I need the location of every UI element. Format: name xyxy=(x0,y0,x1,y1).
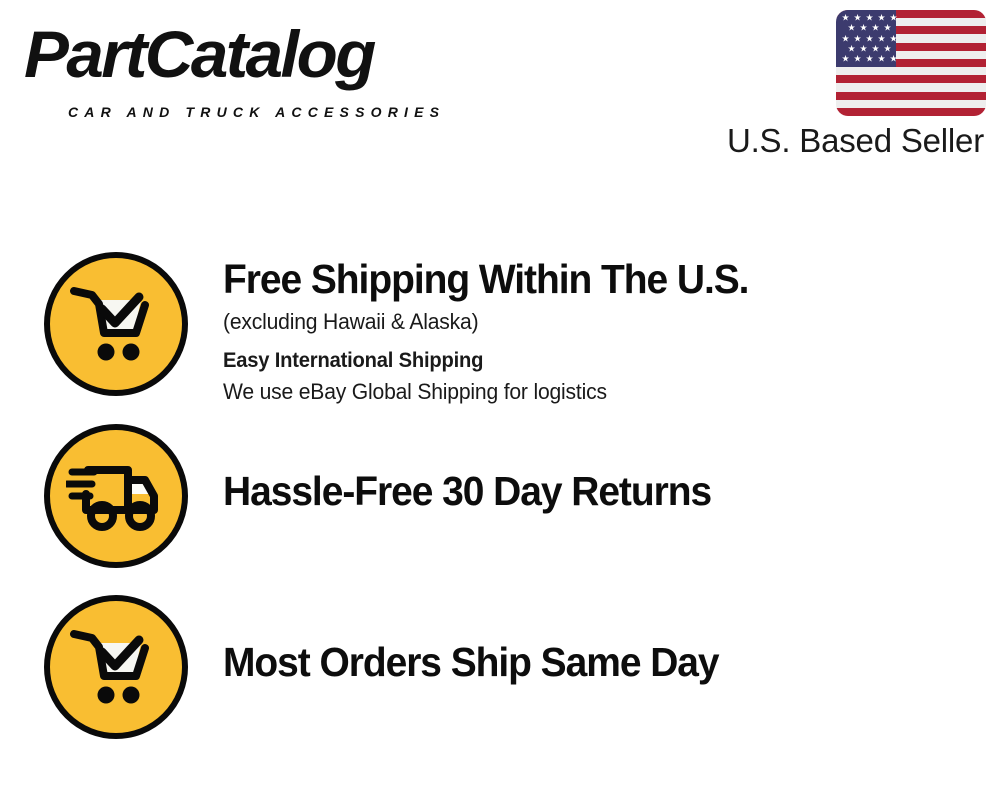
brand-logo[interactable]: PartCatalog CAR AND TRUCK ACCESSORIES xyxy=(24,18,494,113)
brand-tagline: CAR AND TRUCK ACCESSORIES xyxy=(68,104,445,120)
benefit-text-block: Most Orders Ship Same Day xyxy=(188,595,984,685)
us-based-seller-label: U.S. Based Seller xyxy=(706,122,984,160)
benefit-item-free-shipping: Free Shipping Within The U.S. (excluding… xyxy=(44,252,984,407)
flag-canton: ★ ★ ★ ★ ★ ★ ★ ★ ★ ★ ★ ★ ★ ★ ★ ★ ★ ★ ★ ★ xyxy=(836,10,896,67)
seller-info-banner: PartCatalog CAR AND TRUCK ACCESSORIES ★ … xyxy=(0,0,1000,800)
benefit-headline: Most Orders Ship Same Day xyxy=(223,639,946,685)
us-based-seller-block: ★ ★ ★ ★ ★ ★ ★ ★ ★ ★ ★ ★ ★ ★ ★ ★ ★ ★ ★ ★ xyxy=(706,10,986,160)
brand-wordmark: PartCatalog xyxy=(24,18,503,90)
benefit-headline: Free Shipping Within The U.S. xyxy=(223,256,946,302)
delivery-truck-icon xyxy=(44,424,188,568)
shopping-cart-check-icon xyxy=(44,595,188,739)
shopping-cart-check-icon xyxy=(44,252,188,396)
benefit-text-block: Hassle-Free 30 Day Returns xyxy=(188,424,984,514)
benefit-headline: Hassle-Free 30 Day Returns xyxy=(223,468,946,514)
us-flag-icon: ★ ★ ★ ★ ★ ★ ★ ★ ★ ★ ★ ★ ★ ★ ★ ★ ★ ★ ★ ★ xyxy=(836,10,986,116)
benefit-item-returns: Hassle-Free 30 Day Returns xyxy=(44,424,984,568)
benefit-text-block: Free Shipping Within The U.S. (excluding… xyxy=(188,252,984,407)
benefit-item-same-day-ship: Most Orders Ship Same Day xyxy=(44,595,984,739)
benefit-note: (excluding Hawaii & Alaska) xyxy=(223,306,954,337)
benefit-sub-heading: Easy International Shipping xyxy=(223,345,954,376)
benefit-sub-text: We use eBay Global Shipping for logistic… xyxy=(223,376,954,407)
